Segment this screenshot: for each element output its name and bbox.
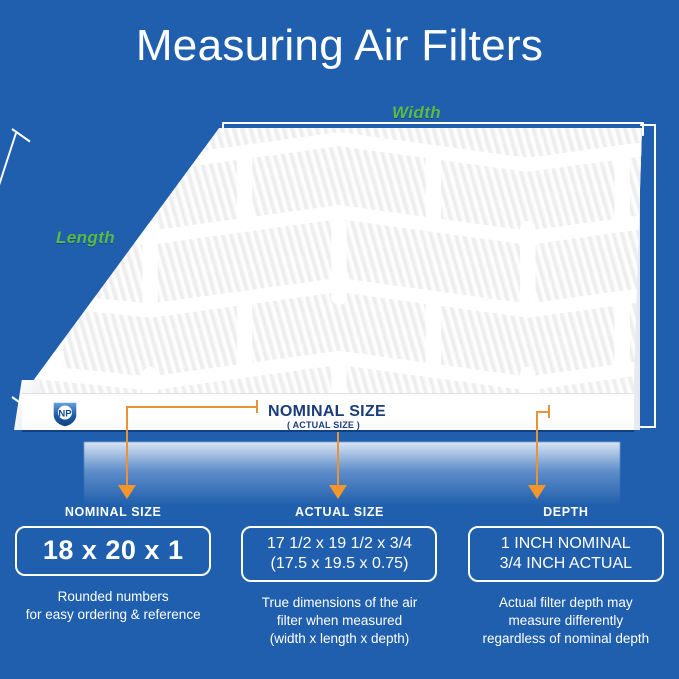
width-measure-bracket <box>222 122 644 136</box>
air-filter-illustration <box>0 110 679 440</box>
nominal-callout-vertical <box>126 406 128 487</box>
actual-size-value-decimal: (17.5 x 19.5 x 0.75) <box>271 554 409 574</box>
caption-line: Rounded numbers <box>26 588 201 606</box>
depth-callout-vertical <box>536 411 538 487</box>
depth-caption: Actual filter depth may measure differen… <box>483 594 650 649</box>
nominal-callout-arrow <box>118 485 136 499</box>
actual-size-inline-sublabel: ( ACTUAL SIZE ) <box>287 420 360 430</box>
nominal-callout-end-tick <box>256 400 258 413</box>
depth-actual-value: 3/4 INCH ACTUAL <box>500 554 632 574</box>
depth-callout-arrow <box>528 485 546 499</box>
actual-size-caption: True dimensions of the air filter when m… <box>262 594 418 649</box>
actual-size-value-fraction: 17 1/2 x 19 1/2 x 3/4 <box>267 534 412 554</box>
column-heading: ACTUAL SIZE <box>295 505 384 519</box>
caption-line: measure differently <box>483 612 650 630</box>
nominal-size-value: 18 x 20 x 1 <box>43 536 184 566</box>
filter-pleated-face <box>22 128 642 396</box>
column-depth: DEPTH 1 INCH NOMINAL 3/4 INCH ACTUAL Act… <box>453 505 679 679</box>
actual-callout-arrow <box>329 485 347 499</box>
depth-measure-bracket <box>640 124 656 428</box>
page-title: Measuring Air Filters <box>0 22 679 70</box>
caption-line: (width x length x depth) <box>262 630 418 648</box>
nominal-callout-horizontal <box>126 406 258 408</box>
nominal-size-value-box: 18 x 20 x 1 <box>15 526 211 576</box>
actual-size-value-box: 17 1/2 x 19 1/2 x 3/4 (17.5 x 19.5 x 0.7… <box>241 526 437 582</box>
infographic-page: Measuring Air Filters Width Length Depth <box>0 0 679 679</box>
filter-diamond-mesh <box>22 128 642 396</box>
caption-line: True dimensions of the air <box>262 594 418 612</box>
summary-columns: NOMINAL SIZE 18 x 20 x 1 Rounded numbers… <box>0 505 679 679</box>
column-heading: DEPTH <box>543 505 588 519</box>
svg-text:NP: NP <box>58 408 72 419</box>
depth-value-box: 1 INCH NOMINAL 3/4 INCH ACTUAL <box>468 526 664 582</box>
actual-callout-vertical <box>337 432 339 487</box>
depth-nominal-value: 1 INCH NOMINAL <box>501 534 631 554</box>
caption-line: Actual filter depth may <box>483 594 650 612</box>
caption-line: regardless of nominal depth <box>483 630 650 648</box>
nominal-size-caption: Rounded numbers for easy ordering & refe… <box>26 588 201 624</box>
np-shield-logo: NP <box>50 400 80 428</box>
column-nominal-size: NOMINAL SIZE 18 x 20 x 1 Rounded numbers… <box>0 505 226 679</box>
caption-line: filter when measured <box>262 612 418 630</box>
depth-callout-end-tick <box>548 405 550 418</box>
caption-line: for easy ordering & reference <box>26 606 201 624</box>
nominal-size-inline-label: NOMINAL SIZE <box>268 403 386 421</box>
column-heading: NOMINAL SIZE <box>65 505 162 519</box>
column-actual-size: ACTUAL SIZE 17 1/2 x 19 1/2 x 3/4 (17.5 … <box>226 505 452 679</box>
